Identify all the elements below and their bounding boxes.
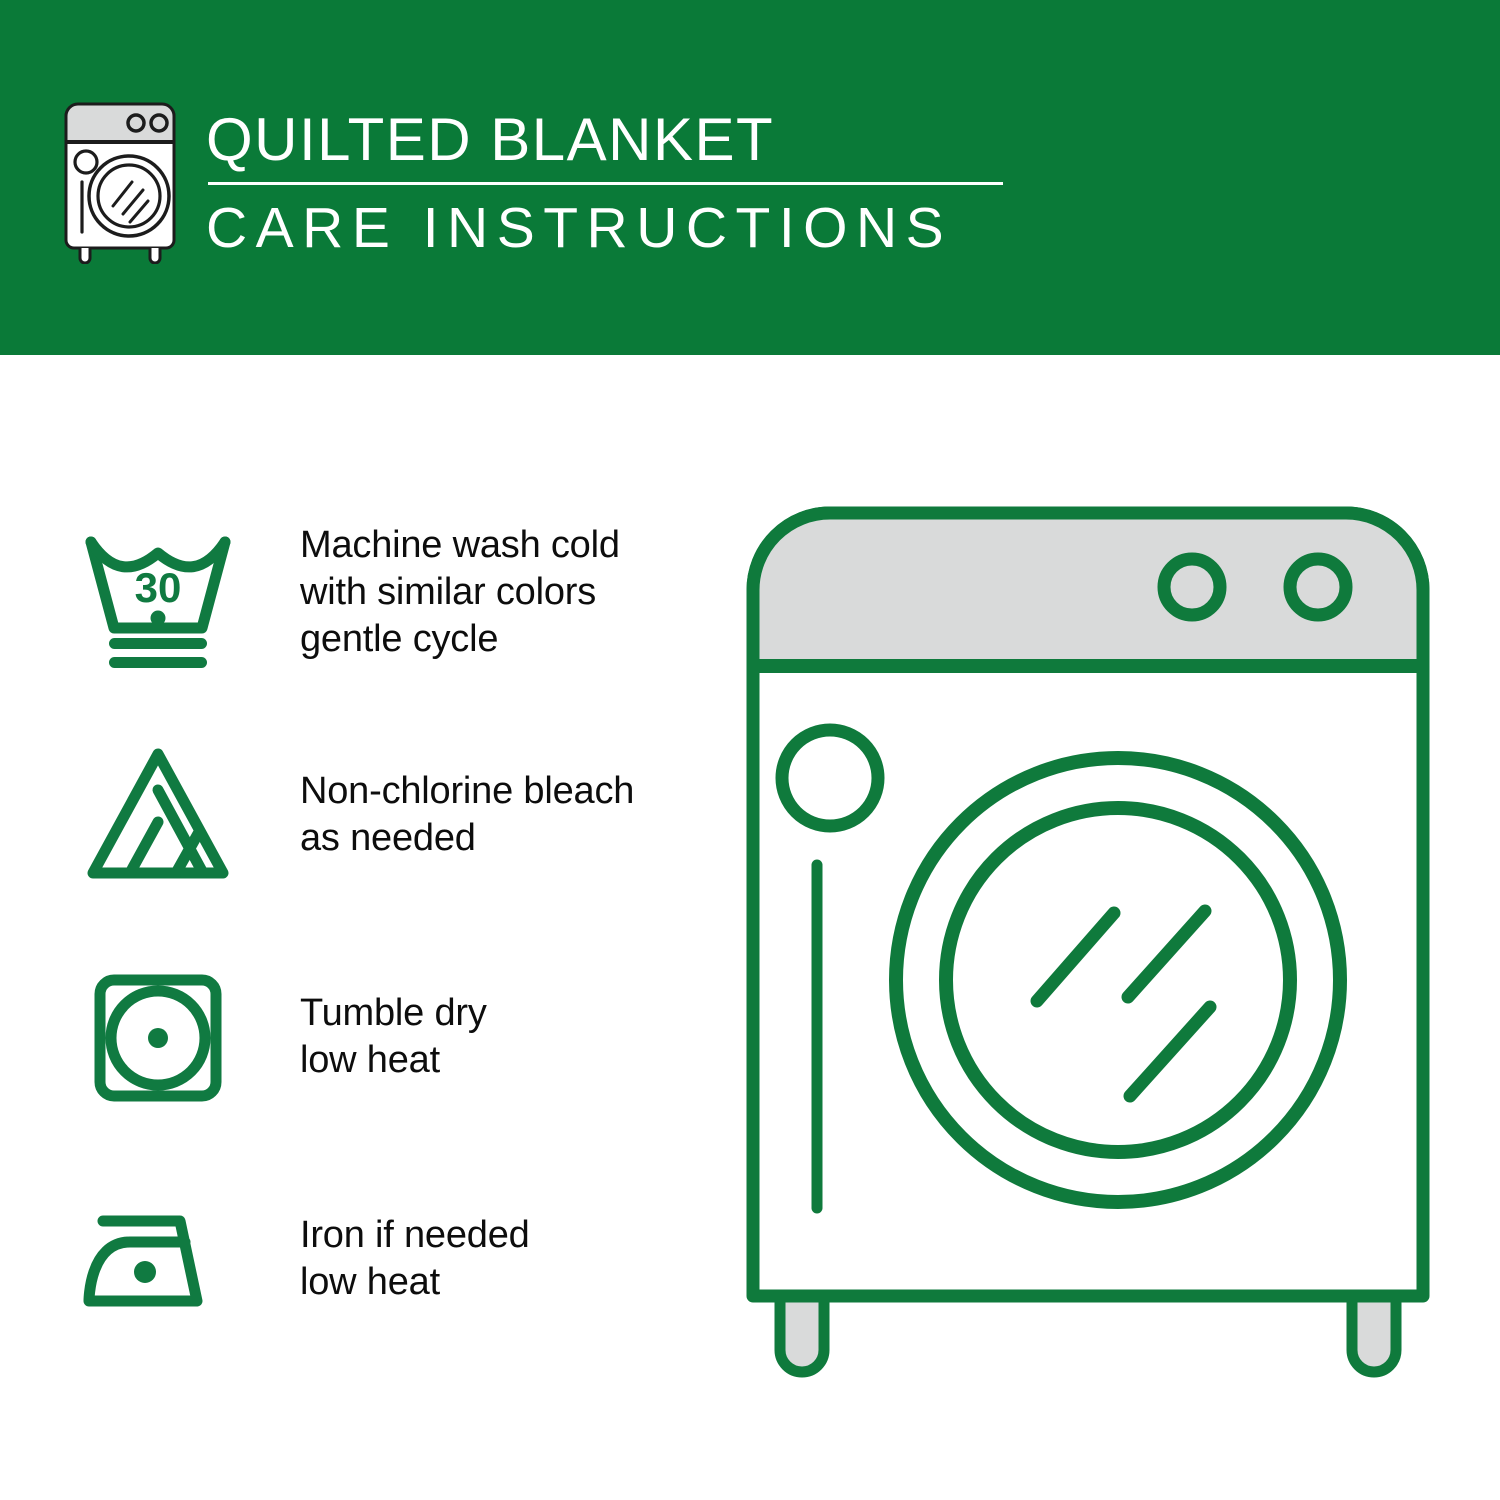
iron-low-heat-icon xyxy=(70,1179,245,1339)
tumble-dry-low-heat-icon xyxy=(70,957,245,1117)
page-content: 30 Machine wash cold with similar colors… xyxy=(0,355,1500,1500)
page-header: QUILTED BLANKET CARE INSTRUCTIONS xyxy=(0,0,1500,355)
care-item-bleach: Non-chlorine bleach as needed xyxy=(70,727,710,902)
washing-machine-icon xyxy=(58,96,188,264)
wash-temperature-value: 30 xyxy=(134,564,181,611)
care-line: gentle cycle xyxy=(300,616,620,663)
care-item-tumble-dry-label: Tumble dry low heat xyxy=(300,990,487,1084)
page-title: QUILTED BLANKET xyxy=(206,106,1003,174)
washing-machine-illustration xyxy=(740,500,1450,1430)
non-chlorine-bleach-triangle-icon xyxy=(70,735,245,895)
care-item-machine-wash: 30 Machine wash cold with similar colors… xyxy=(70,505,710,680)
care-line: as needed xyxy=(300,815,634,862)
care-item-tumble-dry: Tumble dry low heat xyxy=(70,949,710,1124)
care-line: low heat xyxy=(300,1259,530,1306)
care-line: Tumble dry xyxy=(300,990,487,1037)
care-item-iron-label: Iron if needed low heat xyxy=(300,1212,530,1306)
title-divider xyxy=(208,182,1003,185)
care-line: Non-chlorine bleach xyxy=(300,768,634,815)
care-instructions-list: 30 Machine wash cold with similar colors… xyxy=(70,505,710,1346)
care-line: Iron if needed xyxy=(300,1212,530,1259)
header-content: QUILTED BLANKET CARE INSTRUCTIONS xyxy=(58,96,1003,264)
care-item-machine-wash-label: Machine wash cold with similar colors ge… xyxy=(300,522,620,663)
care-line: Machine wash cold xyxy=(300,522,620,569)
care-item-iron: Iron if needed low heat xyxy=(70,1171,710,1346)
header-titles: QUILTED BLANKET CARE INSTRUCTIONS xyxy=(206,96,1003,261)
care-line: with similar colors xyxy=(300,569,620,616)
wash-tub-30-gentle-icon: 30 xyxy=(70,513,245,673)
care-line: low heat xyxy=(300,1037,487,1084)
page-subtitle: CARE INSTRUCTIONS xyxy=(206,195,1003,261)
care-item-bleach-label: Non-chlorine bleach as needed xyxy=(300,768,634,862)
